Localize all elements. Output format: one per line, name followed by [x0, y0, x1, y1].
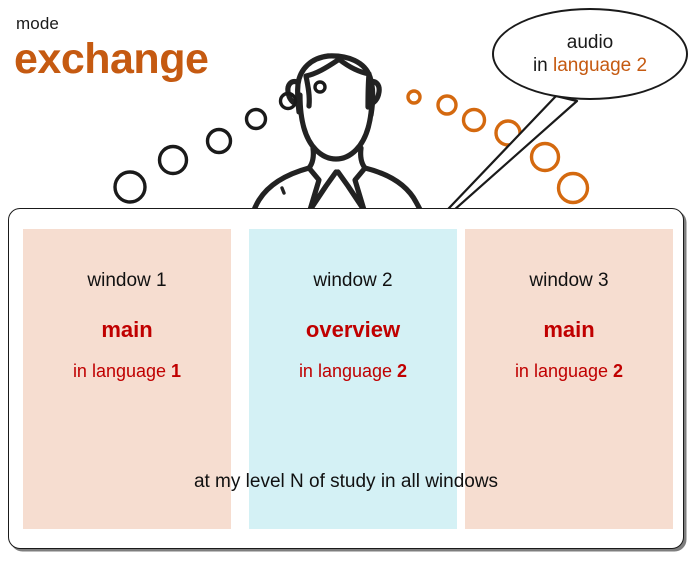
window-1-language-number: 1: [171, 361, 181, 381]
window-2-language-prefix: in language: [299, 361, 397, 381]
bubble-trail-left: [115, 82, 325, 202]
speech-bubble: audio in language 2: [492, 8, 688, 100]
window-1-language: in language 1: [23, 362, 231, 380]
window-3-language-number: 2: [613, 361, 623, 381]
window-3-role: main: [465, 319, 673, 341]
page-title: exchange: [14, 38, 208, 81]
speck-mark: [282, 188, 284, 193]
window-2-role: overview: [249, 319, 457, 341]
speech-bubble-line-2: in language 2: [533, 54, 647, 77]
window-3-language-prefix: in language: [515, 361, 613, 381]
panel-footnote: at my level N of study in all windows: [9, 471, 683, 493]
window-3-language: in language 2: [465, 362, 673, 380]
window-2-language: in language 2: [249, 362, 457, 380]
window-2-title: window 2: [249, 271, 457, 290]
speech-bubble-line-2-prefix: in: [533, 55, 553, 76]
mode-label: mode: [16, 14, 59, 34]
speech-bubble-line-1: audio: [567, 31, 614, 54]
speech-bubble-line-2-highlight: language 2: [553, 55, 647, 76]
window-3-title: window 3: [465, 271, 673, 290]
window-2-language-number: 2: [397, 361, 407, 381]
window-1-title: window 1: [23, 271, 231, 290]
window-1-role: main: [23, 319, 231, 341]
window-1-language-prefix: in language: [73, 361, 171, 381]
windows-panel: window 1 main in language 1 window 2 ove…: [8, 208, 684, 549]
bubble-trail-right: [408, 91, 588, 203]
